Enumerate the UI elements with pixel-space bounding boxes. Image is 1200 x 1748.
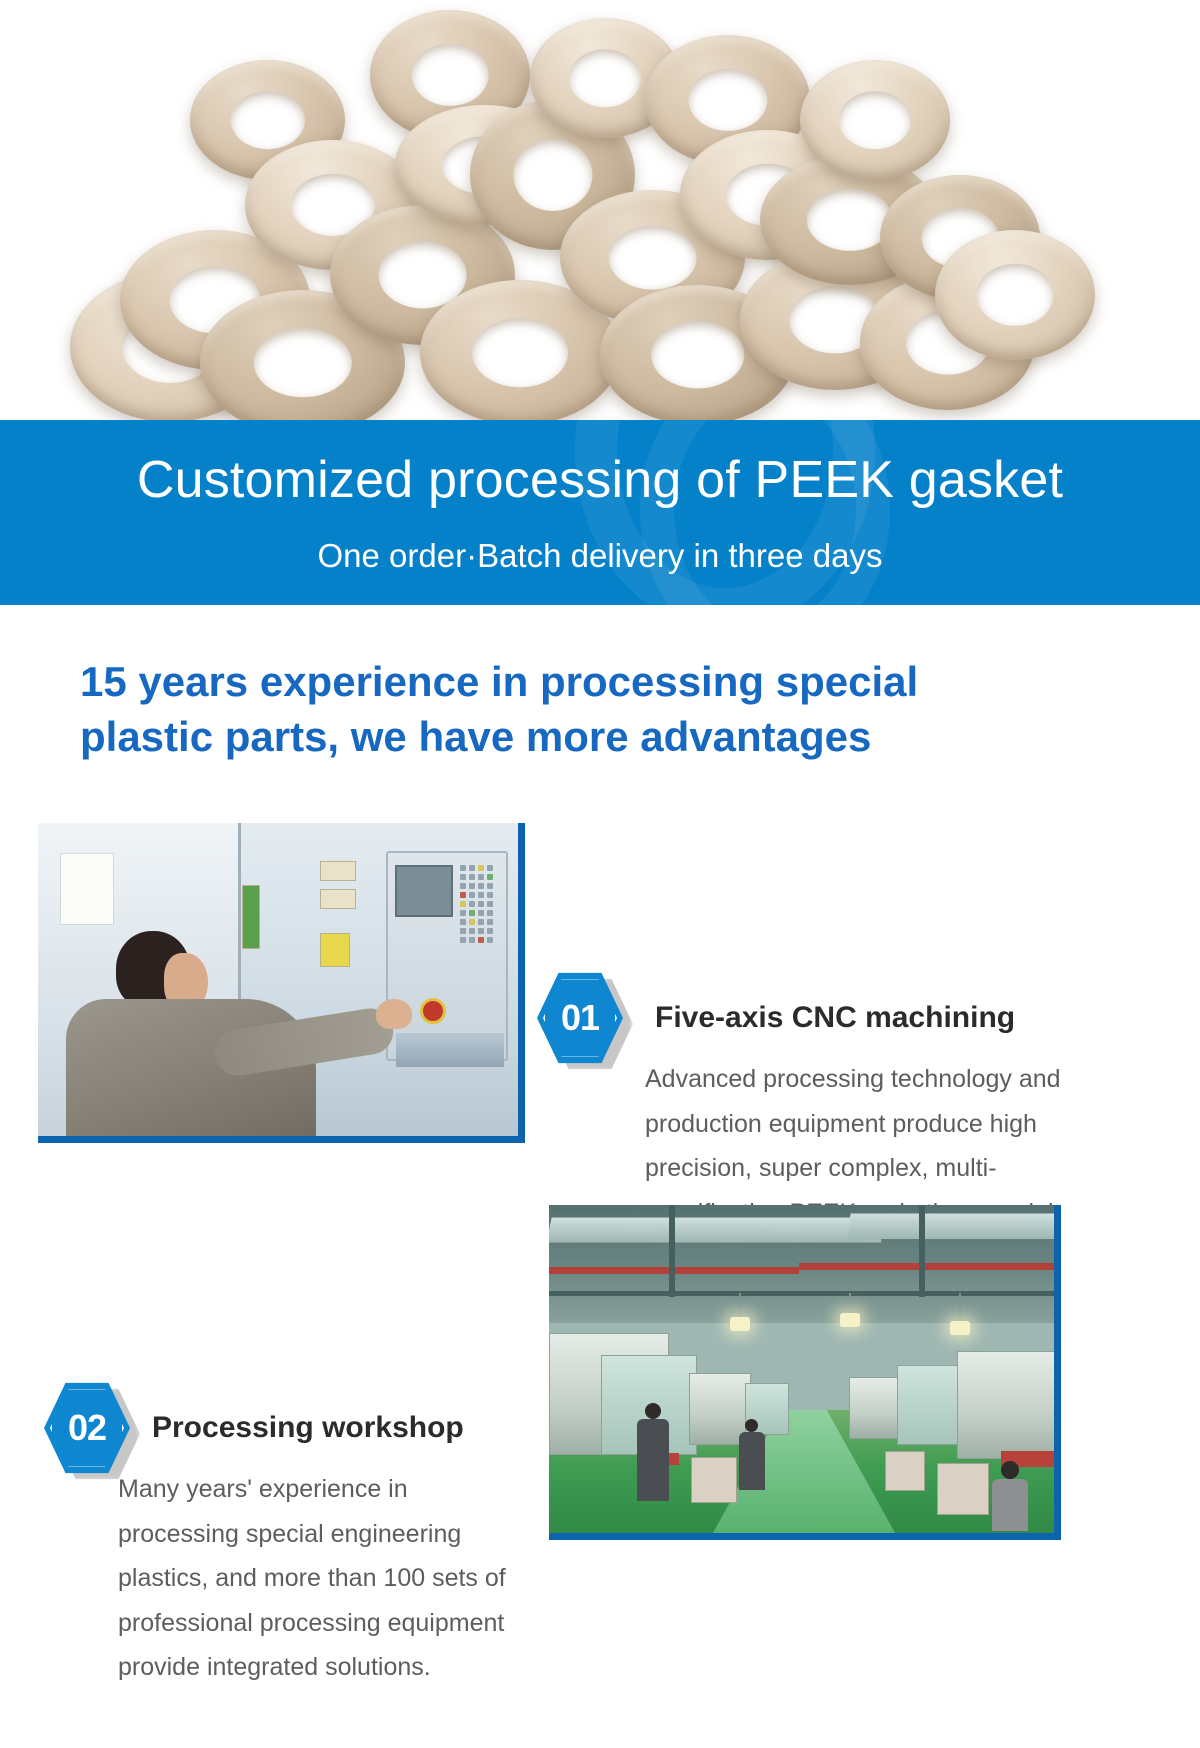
feature-title-01: Five-axis CNC machining xyxy=(655,1001,1015,1035)
hero-banner: Customized processing of PEEK gasket One… xyxy=(0,420,1200,605)
feature-title-02: Processing workshop xyxy=(152,1411,464,1445)
headline-line-2: plastic parts, we have more advantages xyxy=(80,710,1070,765)
hero-product-image xyxy=(0,0,1200,420)
banner-subtitle: One order·Batch delivery in three days xyxy=(0,537,1200,575)
feature-number-02: 02 xyxy=(44,1381,130,1475)
headline-line-1: 15 years experience in processing specia… xyxy=(80,655,1070,710)
feature-image-workshop xyxy=(549,1205,1061,1540)
feature-badge-02: 02 xyxy=(44,1381,130,1475)
feature-number-01: 01 xyxy=(537,971,623,1065)
feature-badge-01: 01 xyxy=(537,971,623,1065)
feature-body-02: Many years' experience in processing spe… xyxy=(118,1467,518,1690)
feature-image-cnc xyxy=(38,823,525,1143)
banner-title: Customized processing of PEEK gasket xyxy=(0,450,1200,510)
product-detail-page: Customized processing of PEEK gasket One… xyxy=(0,0,1200,1748)
watermark-ring-inner-icon xyxy=(640,420,890,605)
section-headline: 15 years experience in processing specia… xyxy=(80,655,1070,764)
